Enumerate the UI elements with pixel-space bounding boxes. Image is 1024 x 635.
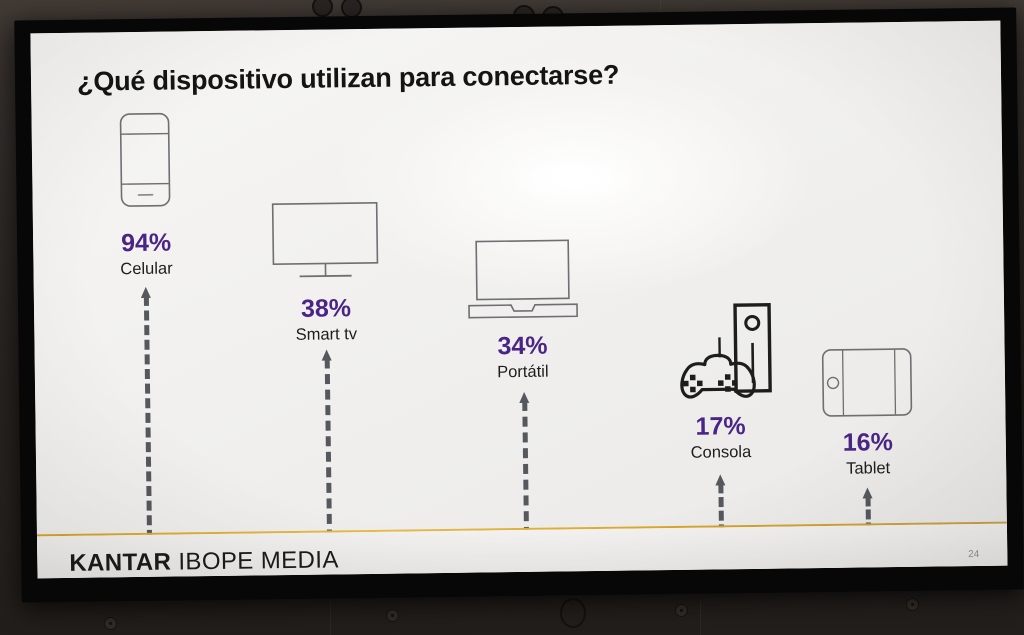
value-label-celular: 94% [96,228,196,258]
display-screen: ¿Qué dispositivo utilizan para conectars… [30,21,1007,579]
arrow-celular [144,287,152,540]
value-label-portatil: 34% [469,331,575,361]
arrow-smart-tv [325,349,332,539]
flat-screen-display: ¿Qué dispositivo utilizan para conectars… [14,7,1024,602]
page-title: ¿Qué dispositivo utilizan para conectars… [77,56,907,98]
game-console-icon [667,301,778,398]
category-label-tablet: Tablet [818,459,918,479]
value-label-smart-tv: 38% [276,294,376,324]
wall-bolt-icon [104,617,117,630]
wall-bolt-icon [386,609,399,622]
arrow-portatil [522,392,529,537]
category-label-celular: Celular [96,259,196,279]
wall-panel-seam [700,600,701,635]
value-label-consola: 17% [667,412,773,442]
presentation-slide: ¿Qué dispositivo utilizan para conectars… [30,21,1007,579]
wall-bolt-icon [675,604,688,617]
value-label-tablet: 16% [818,428,918,458]
category-label-portatil: Portátil [470,362,576,382]
wall-bolt-icon [906,598,919,611]
category-label-consola: Consola [668,443,774,463]
tablet-icon [821,347,918,420]
smart-tv-icon [271,201,380,282]
smartphone-icon [108,111,181,208]
logo-ibope-media: IBOPE MEDIA [178,546,339,575]
cable-loop [560,598,586,628]
wall-panel-seam [330,600,331,635]
category-label-smart-tv: Smart tv [276,325,376,345]
screen-glare-reflection [510,161,636,199]
kantar-ibope-media-logo: KANTAR IBOPE MEDIA [69,546,339,578]
laptop-icon [466,238,579,323]
logo-kantar: KANTAR [69,549,171,577]
page-number: 24 [968,549,979,560]
